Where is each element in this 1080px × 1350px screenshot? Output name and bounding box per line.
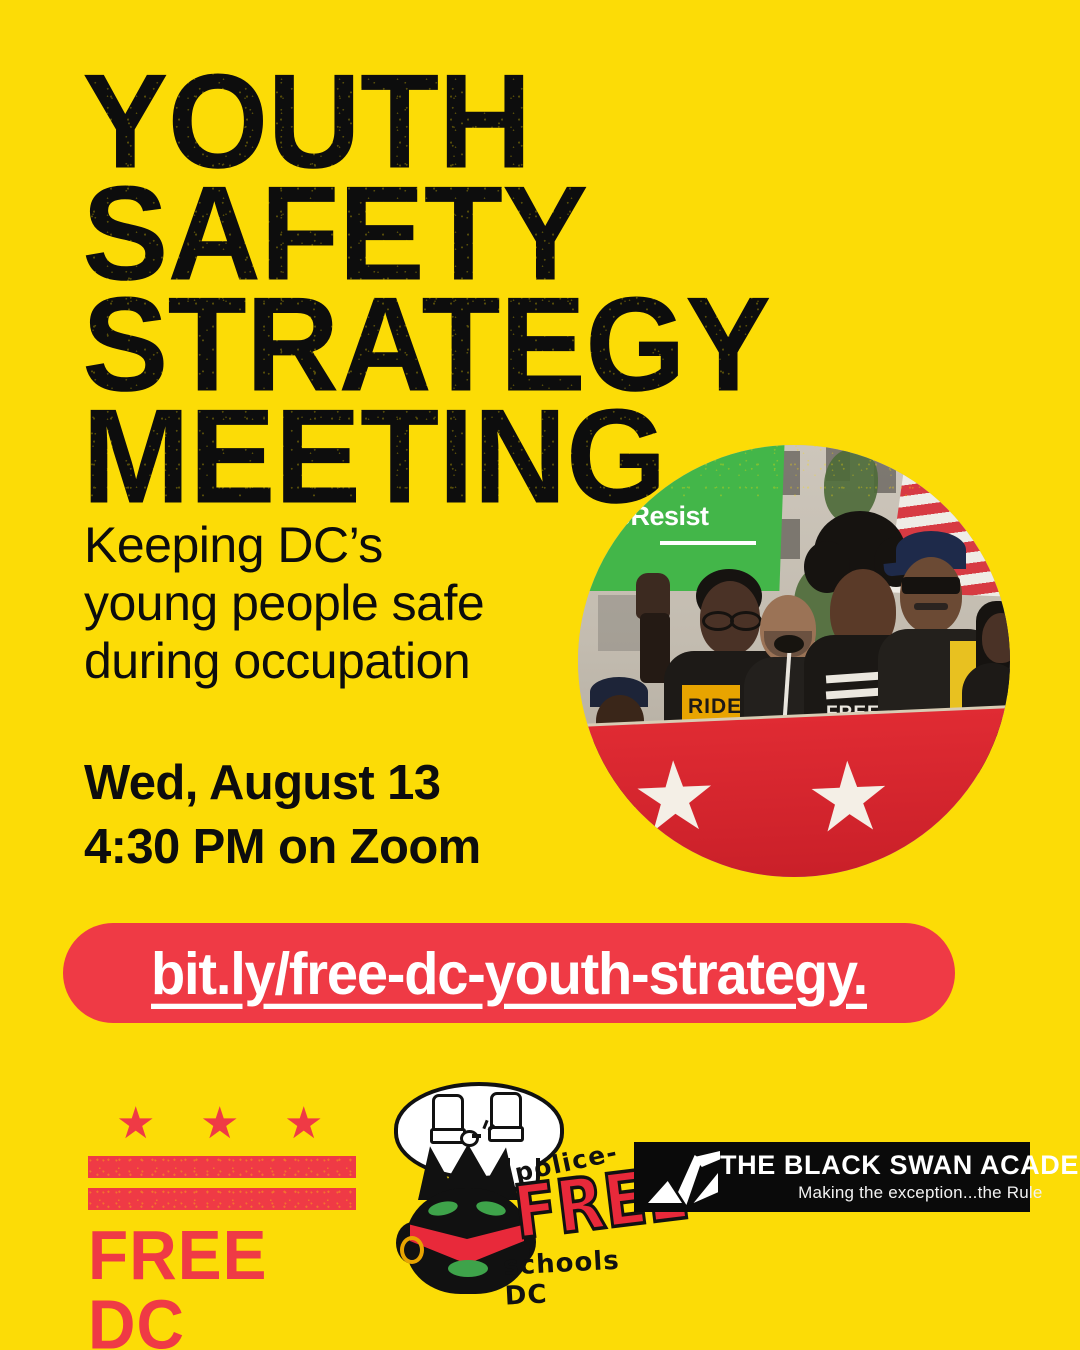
shirt-text-pride: RIDE (688, 695, 742, 719)
bsa-text-block: THE BLACK SWAN ACADEMY Making the except… (720, 1151, 1080, 1204)
earring-icon (400, 1236, 424, 1264)
bsa-tagline: Making the exception...the Rule (720, 1183, 1080, 1203)
logo-police-free-schools-dc: police- FREE schools DC (386, 1080, 646, 1300)
free-dc-bar (88, 1156, 356, 1178)
subtitle-line-3: during occupation (84, 632, 484, 690)
free-dc-star: ★ (284, 1102, 323, 1146)
subtitle: Keeping DC’s young people safe during oc… (84, 516, 484, 690)
headline-line-1: YOUTH (82, 66, 1080, 180)
swan-icon (642, 1147, 720, 1207)
free-dc-stars: ★ ★ ★ (88, 1102, 356, 1146)
bsa-title: THE BLACK SWAN ACADEMY (720, 1151, 1080, 1181)
subtitle-line-2: young people safe (84, 574, 484, 632)
free-dc-star: ★ (116, 1102, 155, 1146)
registration-url[interactable]: bit.ly/free-dc-youth-strategy. (151, 939, 867, 1008)
event-time: 4:30 PM on Zoom (84, 816, 481, 880)
protest-sign-underline (660, 541, 756, 545)
handcuff-icon (488, 1126, 524, 1142)
headline-line-2: SAFETY (82, 178, 1080, 292)
microphone-head (774, 635, 804, 653)
pfs-text-schools: schools DC (503, 1244, 648, 1311)
headline-line-3: STRATEGY (82, 289, 1080, 403)
event-datetime: Wed, August 13 4:30 PM on Zoom (84, 752, 481, 879)
headline: YOUTH SAFETY STRATEGY MEETING (82, 66, 1002, 501)
free-dc-wordmark: FREE DC (88, 1222, 372, 1350)
protest-sign-text: eToResist (586, 501, 796, 532)
rally-photo: eToResist RIDE URPOSE (578, 445, 1010, 877)
free-dc-star: ★ (200, 1102, 239, 1146)
broken-chain-icon (472, 1134, 481, 1138)
poster-canvas: eToResist RIDE URPOSE (0, 0, 1080, 1350)
lips (448, 1260, 488, 1277)
red-banner: ★ ★ (578, 706, 1010, 877)
partner-logos-row: ★ ★ ★ FREE DC (0, 1080, 1080, 1310)
free-dc-bar (88, 1188, 356, 1210)
logo-free-dc: ★ ★ ★ FREE DC (88, 1102, 356, 1346)
registration-link-button[interactable]: bit.ly/free-dc-youth-strategy. (63, 923, 955, 1023)
headline-grunge-texture (82, 66, 1002, 501)
logo-black-swan-academy: THE BLACK SWAN ACADEMY Making the except… (634, 1142, 1030, 1212)
subtitle-line-1: Keeping DC’s (84, 516, 484, 574)
banner-star: ★ (630, 747, 720, 847)
event-date: Wed, August 13 (84, 752, 481, 816)
banner-star: ★ (804, 747, 894, 847)
rally-photo-circle: eToResist RIDE URPOSE (578, 445, 1010, 877)
